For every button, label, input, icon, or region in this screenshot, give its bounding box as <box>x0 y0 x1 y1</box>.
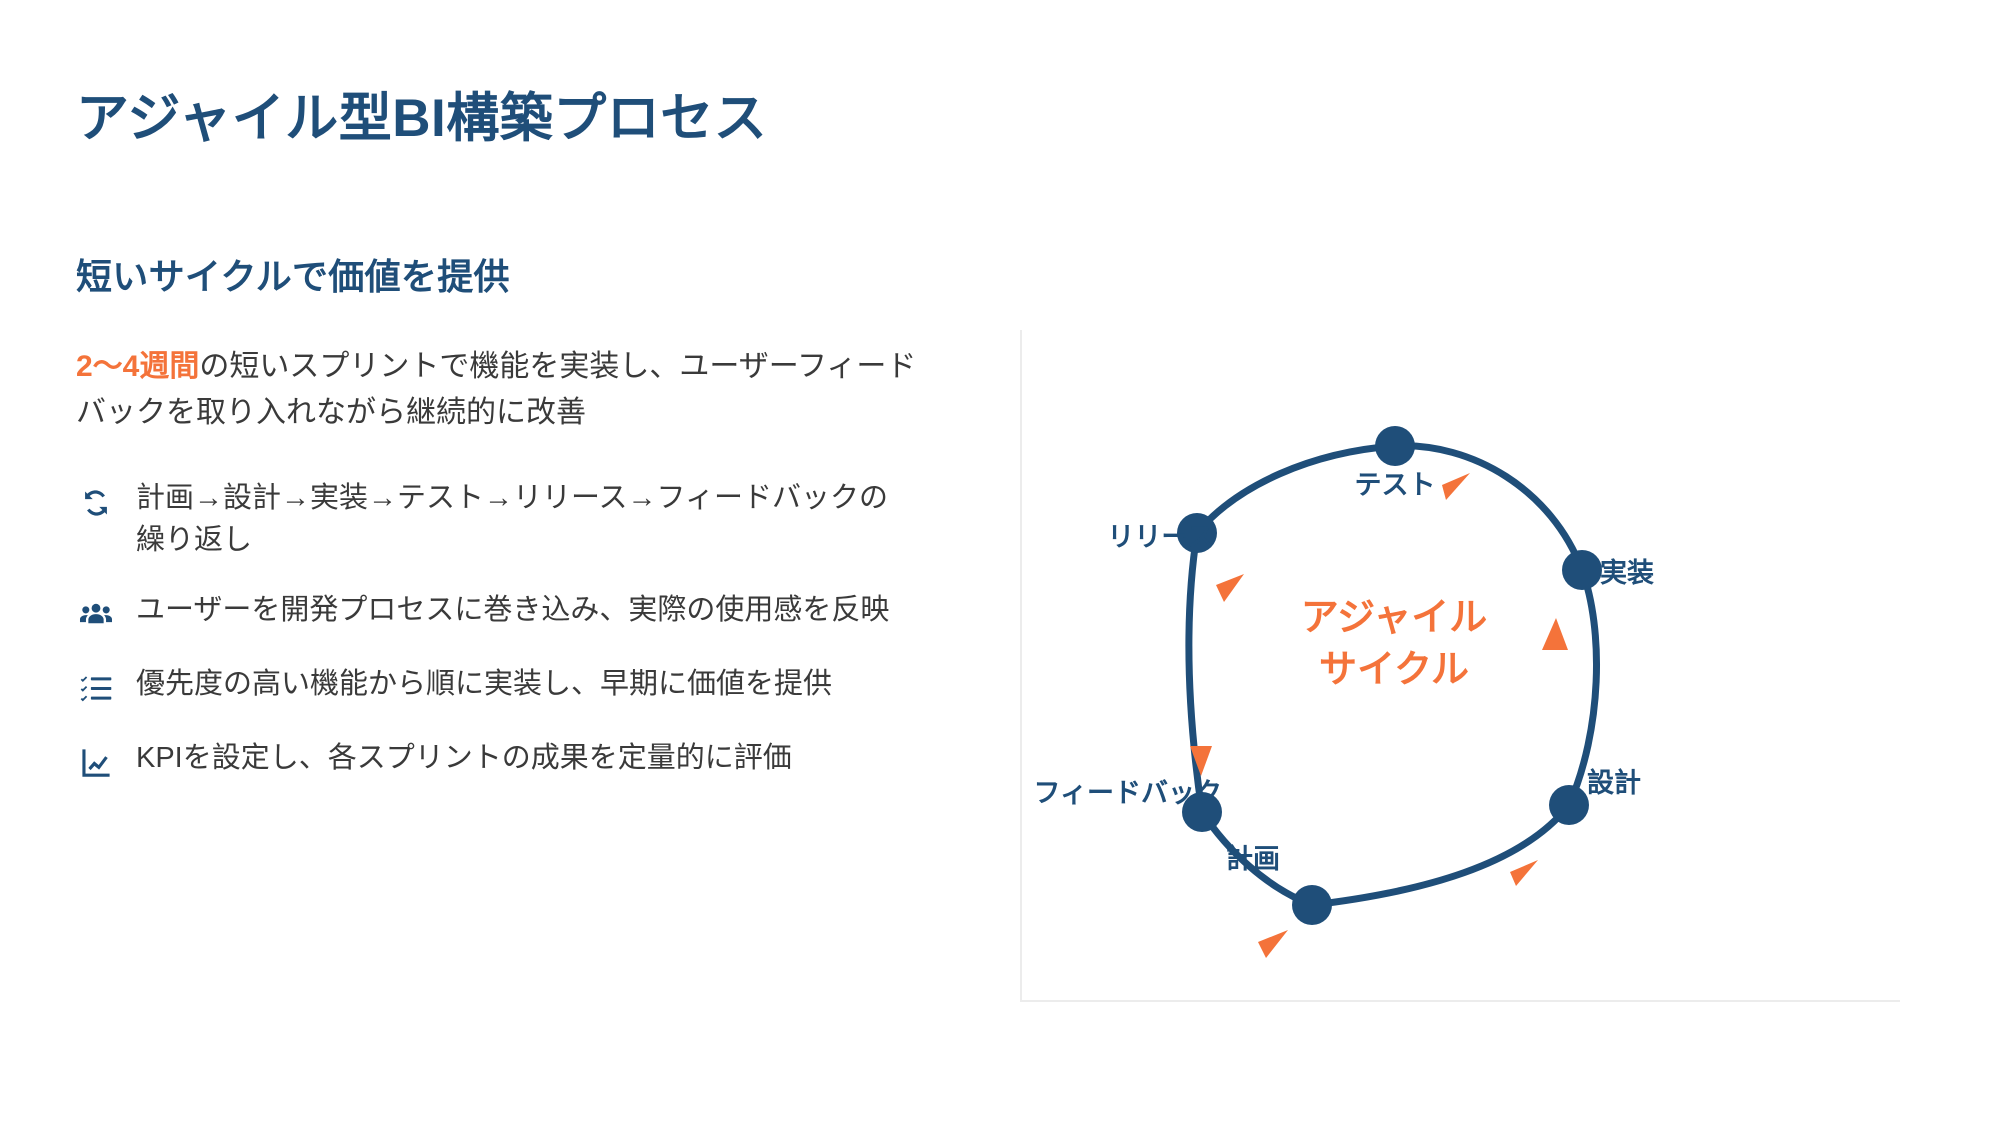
line-chart-icon <box>76 743 116 783</box>
node-implement <box>1562 550 1602 590</box>
agile-cycle-diagram: 計画 設計 実装 テスト リリース フィードバック アジャイル サイクル <box>1020 330 1900 1002</box>
lead-rest: の短いスプリントで機能を実装し、ユーザーフィードバックを取り入れながら継続的に改… <box>76 350 916 429</box>
center-label-line2: サイクル <box>1319 649 1469 691</box>
list-item: 優先度の高い機能から順に実装し、早期に価値を提供 <box>76 663 916 709</box>
list-item-label: ユーザーを開発プロセスに巻き込み、実際の使用感を反映 <box>136 589 916 631</box>
node-design <box>1549 785 1589 825</box>
section-heading: 短いサイクルで価値を提供 <box>76 248 956 300</box>
cycle-center-label: アジャイル サイクル <box>1301 597 1488 691</box>
cycle-direction-arrows <box>1190 473 1568 958</box>
node-test <box>1375 426 1415 466</box>
list-item-label: 計画→設計→実装→テスト→リリース→フィードバックの繰り返し <box>136 477 916 561</box>
list-item: 計画→設計→実装→テスト→リリース→フィードバックの繰り返し <box>76 477 916 561</box>
list-item-label: KPIを設定し、各スプリントの成果を定量的に評価 <box>136 737 916 779</box>
users-icon <box>76 595 116 635</box>
lead-highlight: 2〜4週間 <box>76 350 199 383</box>
arrow-test-to-release <box>1442 473 1470 500</box>
node-label-test: テスト <box>1355 470 1436 500</box>
bullet-list: 計画→設計→実装→テスト→リリース→フィードバックの繰り返し ユーザーを開発プロ… <box>76 477 956 783</box>
node-label-implement: 実装 <box>1600 557 1654 588</box>
list-item-label: 優先度の高い機能から順に実装し、早期に価値を提供 <box>136 663 916 705</box>
task-list-icon <box>76 669 116 709</box>
node-label-design: 設計 <box>1587 767 1641 798</box>
node-label-plan: 計画 <box>1226 843 1280 874</box>
edge-implement-to-test <box>1395 446 1582 570</box>
node-plan <box>1292 885 1332 925</box>
page-title: アジャイル型BI構築プロセス <box>76 76 767 152</box>
sync-icon <box>76 483 116 523</box>
list-item: ユーザーを開発プロセスに巻き込み、実際の使用感を反映 <box>76 589 916 635</box>
center-label-line1: アジャイル <box>1301 597 1488 639</box>
arrow-release-to-feedback <box>1216 574 1244 602</box>
arrow-plan-to-design <box>1258 930 1288 958</box>
lead-paragraph: 2〜4週間の短いスプリントで機能を実装し、ユーザーフィードバックを取り入れながら… <box>76 344 921 435</box>
edge-plan-to-design <box>1312 805 1569 905</box>
list-item: KPIを設定し、各スプリントの成果を定量的に評価 <box>76 737 916 783</box>
node-label-release: リリース <box>1107 522 1214 552</box>
slide-root: アジャイル型BI構築プロセス 短いサイクルで価値を提供 2〜4週間の短いスプリン… <box>0 0 2000 1125</box>
node-label-feedback: フィードバック <box>1034 778 1222 808</box>
arrow-implement-to-test <box>1542 618 1568 650</box>
left-content-column: 短いサイクルで価値を提供 2〜4週間の短いスプリントで機能を実装し、ユーザーフィ… <box>76 248 956 811</box>
arrow-design-to-implement <box>1510 860 1538 886</box>
